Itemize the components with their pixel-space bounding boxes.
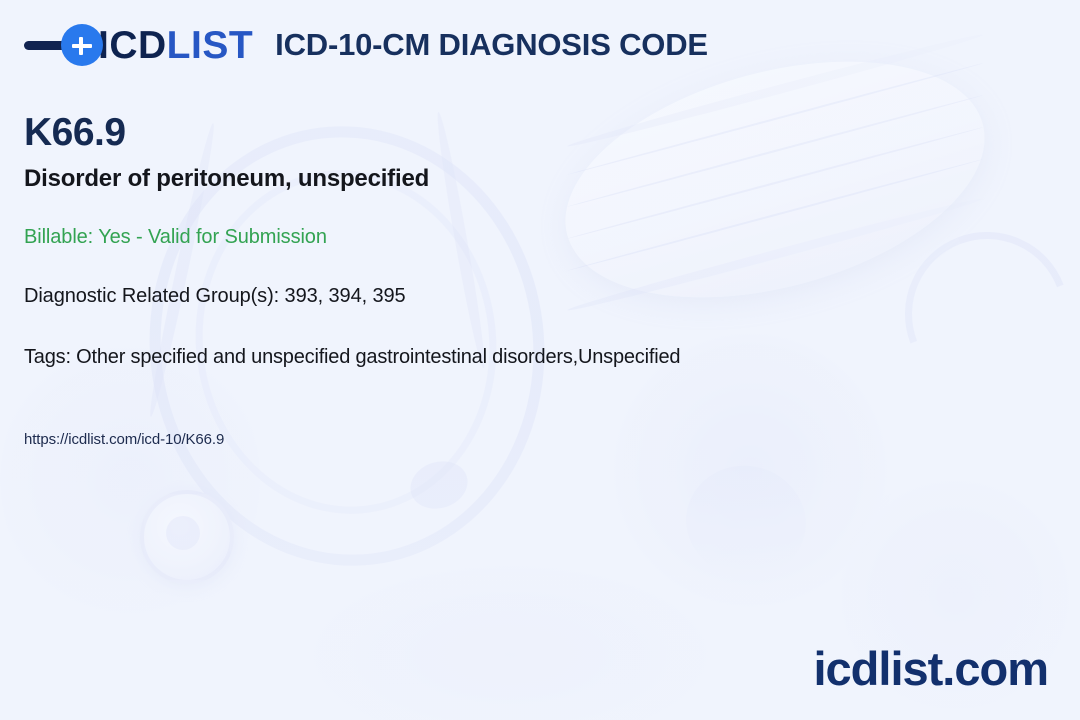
plus-icon: [61, 24, 103, 66]
logo-word-icd: ICD: [98, 24, 167, 67]
tags-line: Tags: Other specified and unspecified ga…: [24, 346, 1054, 369]
code-details: K66.9 Disorder of peritoneum, unspecifie…: [24, 112, 1054, 448]
stethoscope-chestpiece: [140, 490, 234, 584]
diagnostic-related-groups: Diagnostic Related Group(s): 393, 394, 3…: [24, 285, 1054, 308]
icdlist-logo[interactable]: ICDLIST: [24, 24, 253, 66]
icd-code-value: K66.9: [24, 112, 1054, 155]
stethoscope-chestpiece-hub: [166, 516, 200, 550]
icd-code-card: ICDLIST ICD-10-CM DIAGNOSIS CODE K66.9 D…: [0, 0, 1080, 720]
page-title: ICD-10-CM DIAGNOSIS CODE: [275, 27, 708, 63]
photo-blur-blob: [300, 560, 720, 720]
stethoscope-earpiece: [404, 454, 473, 516]
logo-word-list: LIST: [167, 24, 254, 67]
gloved-hand-shape: [674, 453, 818, 591]
billable-status-badge: Billable: Yes - Valid for Submission: [24, 226, 1054, 249]
source-url[interactable]: https://icdlist.com/icd-10/K66.9: [24, 431, 1054, 448]
page-header: ICDLIST ICD-10-CM DIAGNOSIS CODE: [24, 24, 708, 66]
footer-brand: icdlist.com: [813, 641, 1048, 696]
icd-code-description: Disorder of peritoneum, unspecified: [24, 165, 1054, 193]
logo-wordmark: ICDLIST: [98, 26, 253, 65]
